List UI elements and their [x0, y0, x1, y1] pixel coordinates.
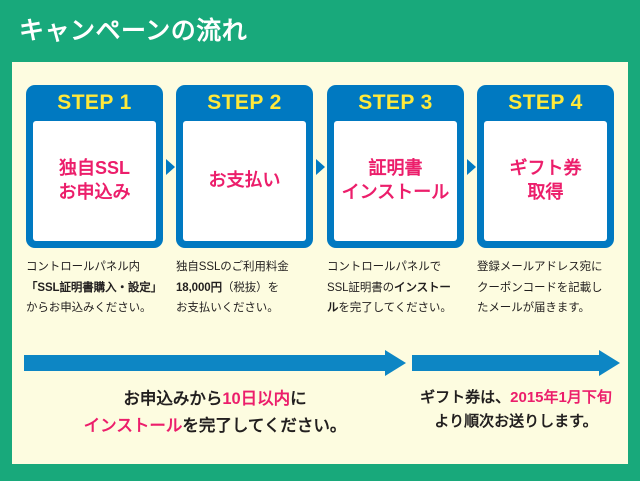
- step-3-desc-line-2: SSL証明書のインストー: [327, 278, 477, 299]
- campaign-flow-infographic: { "theme": { "frame_green": "#18a97b", "…: [0, 0, 640, 481]
- step-card-3[interactable]: STEP 3 証明書 インストール: [327, 85, 464, 248]
- caption-right-l1-highlight: 2015年1月下旬: [510, 389, 612, 406]
- step-1-desc-line-2-bold: 「SSL証明書購入・設定」: [26, 282, 162, 294]
- step-4-desc-line-3: たメールが届きます。: [477, 298, 627, 319]
- step-card-4[interactable]: STEP 4 ギフト券 取得: [477, 85, 614, 248]
- descriptions-row: コントロールパネル内 「SSL証明書購入・設定」 からお申込みください。 独自S…: [20, 257, 620, 335]
- timeline-arrow-icon-right: [412, 350, 620, 376]
- caption-right-l2-post: より順次お送りします。: [434, 413, 597, 430]
- captions-row: お申込みから10日以内に インストールを完了してください。 ギフト券は、2015…: [20, 386, 620, 456]
- step-2-desc-price-suffix: （税抜）を: [222, 282, 279, 294]
- step-2-heading: STEP 2: [176, 85, 313, 121]
- caption-left-l1-post: に: [290, 390, 307, 408]
- caption-left-line-1: お申込みから10日以内に: [24, 386, 406, 413]
- step-connector-arrow-icon-3: [467, 159, 476, 175]
- caption-right-line-2: より順次お送りします。: [412, 410, 620, 434]
- step-2-body: お支払い: [183, 121, 306, 241]
- step-4-label-line-2: 取得: [528, 181, 564, 205]
- step-1-description: コントロールパネル内 「SSL証明書購入・設定」 からお申込みください。: [26, 257, 176, 319]
- caption-right: ギフト券は、2015年1月下旬 より順次お送りします。: [412, 386, 620, 435]
- step-1-desc-line-1: コントロールパネル内: [26, 257, 176, 278]
- step-3-desc-line-1: コントロールパネルで: [327, 257, 477, 278]
- step-1-label-line-2: お申込み: [59, 181, 131, 205]
- caption-left-l1-pre: お申込みから: [123, 390, 222, 408]
- step-3-desc-line-3: ルを完了してください。: [327, 298, 477, 319]
- timeline-arrow-icon-left: [24, 350, 406, 376]
- step-3-heading: STEP 3: [327, 85, 464, 121]
- step-2-desc-line-1: 独自SSLのご利用料金: [176, 257, 326, 278]
- step-4-desc-line-2: クーポンコードを記載し: [477, 278, 627, 299]
- step-3-description: コントロールパネルで SSL証明書のインストー ルを完了してください。: [327, 257, 477, 319]
- step-2-desc-line-2: 18,000円（税抜）を: [176, 278, 326, 299]
- header-bar: キャンペーンの流れ: [0, 0, 640, 62]
- caption-left-l1-highlight: 10日以内: [222, 390, 290, 408]
- step-3-desc-bold-a: インストー: [394, 282, 451, 294]
- step-card-1[interactable]: STEP 1 独自SSL お申込み: [26, 85, 163, 248]
- step-connector-arrow-icon-2: [316, 159, 325, 175]
- step-4-desc-line-1: 登録メールアドレス宛に: [477, 257, 627, 278]
- step-4-description: 登録メールアドレス宛に クーポンコードを記載し たメールが届きます。: [477, 257, 627, 319]
- step-3-body: 証明書 インストール: [334, 121, 457, 241]
- caption-left-line-2: インストールを完了してください。: [24, 413, 406, 440]
- content-panel: STEP 1 独自SSL お申込み STEP 2 お支払い STEP 3 証明書…: [12, 62, 628, 464]
- arrow-shaft-left: [24, 355, 385, 371]
- step-card-2[interactable]: STEP 2 お支払い: [176, 85, 313, 248]
- step-4-heading: STEP 4: [477, 85, 614, 121]
- step-1-body: 独自SSL お申込み: [33, 121, 156, 241]
- step-3-desc-prefix: SSL証明書の: [327, 282, 394, 294]
- step-1-desc-line-2: 「SSL証明書購入・設定」: [26, 278, 176, 299]
- arrow-head-left: [385, 350, 406, 376]
- step-2-label-line-1: お支払い: [209, 169, 281, 193]
- caption-right-line-1: ギフト券は、2015年1月下旬: [412, 386, 620, 410]
- step-3-desc-suffix: を完了してください。: [338, 302, 451, 314]
- step-2-desc-line-3: お支払いください。: [176, 298, 326, 319]
- step-1-label-line-1: 独自SSL: [59, 157, 130, 181]
- step-1-heading: STEP 1: [26, 85, 163, 121]
- caption-left: お申込みから10日以内に インストールを完了してください。: [24, 386, 406, 439]
- step-3-desc-bold-b: ル: [327, 302, 338, 314]
- arrow-head-right: [599, 350, 620, 376]
- step-2-desc-price: 18,000円: [176, 282, 222, 294]
- step-2-description: 独自SSLのご利用料金 18,000円（税抜）を お支払いください。: [176, 257, 326, 319]
- caption-left-l2-highlight: インストール: [84, 417, 183, 435]
- caption-left-l2-post: を完了してください。: [182, 417, 346, 435]
- step-3-label-line-1: 証明書: [369, 157, 423, 181]
- step-4-body: ギフト券 取得: [484, 121, 607, 241]
- arrow-shaft-right: [412, 355, 599, 371]
- steps-row: STEP 1 独自SSL お申込み STEP 2 お支払い STEP 3 証明書…: [20, 85, 620, 250]
- page-title: キャンペーンの流れ: [19, 19, 247, 44]
- caption-right-l1-pre: ギフト券は、: [420, 389, 510, 406]
- step-1-desc-line-3: からお申込みください。: [26, 298, 176, 319]
- step-4-label-line-1: ギフト券: [510, 157, 582, 181]
- step-3-label-line-2: インストール: [342, 181, 450, 205]
- step-connector-arrow-icon-1: [166, 159, 175, 175]
- timeline-arrows: [20, 350, 620, 376]
